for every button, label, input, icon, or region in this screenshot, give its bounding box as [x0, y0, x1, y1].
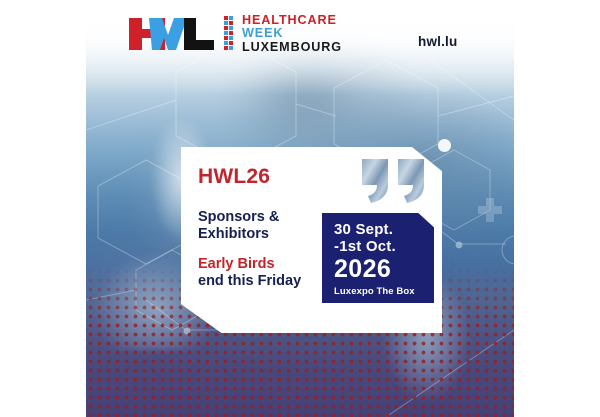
checkered-divider-icon [224, 16, 233, 52]
event-venue: Luxexpo The Box [334, 286, 434, 297]
brand-wordmark: HEALTHCARE WEEK LUXEMBOURG [242, 14, 342, 54]
wordmark-week: WEEK [242, 27, 342, 40]
promo-banner: AI HEALTHCARE [0, 0, 600, 417]
date-line-1: 30 Sept. [334, 222, 434, 239]
site-url-link[interactable]: hwl.lu [418, 34, 457, 49]
quotation-mark-icon [360, 157, 430, 205]
event-date-content: 30 Sept. -1st Oct. 2026 Luxexpo The Box [322, 213, 434, 297]
event-year: 2026 [334, 257, 434, 283]
wordmark-luxembourg: LUXEMBOURG [242, 41, 342, 54]
event-date-badge: 30 Sept. -1st Oct. 2026 Luxexpo The Box [322, 213, 434, 303]
hwl-monogram-icon [127, 14, 215, 54]
wordmark-healthcare: HEALTHCARE [242, 14, 342, 27]
date-line-2: -1st Oct. [334, 239, 434, 256]
brand-logo[interactable]: HEALTHCARE WEEK LUXEMBOURG [127, 14, 342, 54]
header: HEALTHCARE WEEK LUXEMBOURG hwl.lu [0, 0, 600, 72]
